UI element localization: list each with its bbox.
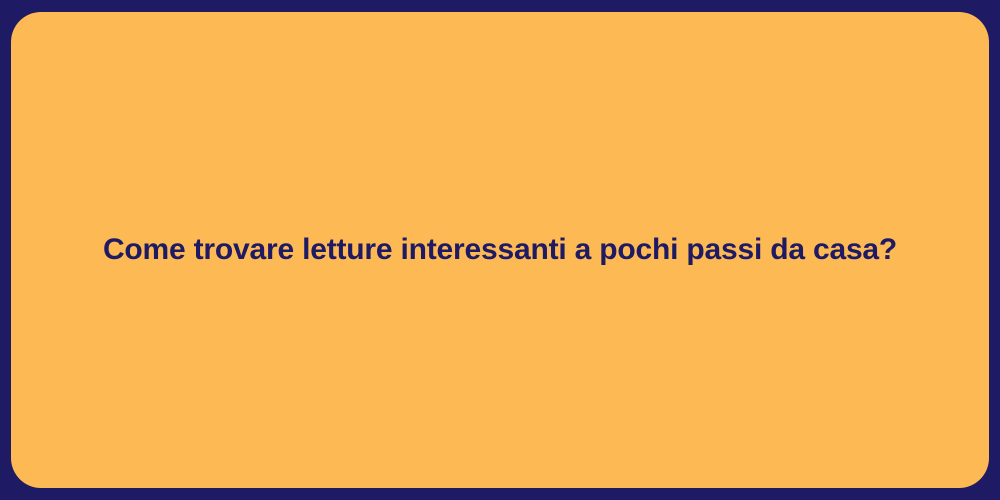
card-frame: Come trovare letture interessanti a poch… [0, 0, 1000, 500]
card-panel: Come trovare letture interessanti a poch… [11, 12, 989, 488]
page-title: Come trovare letture interessanti a poch… [103, 231, 897, 269]
